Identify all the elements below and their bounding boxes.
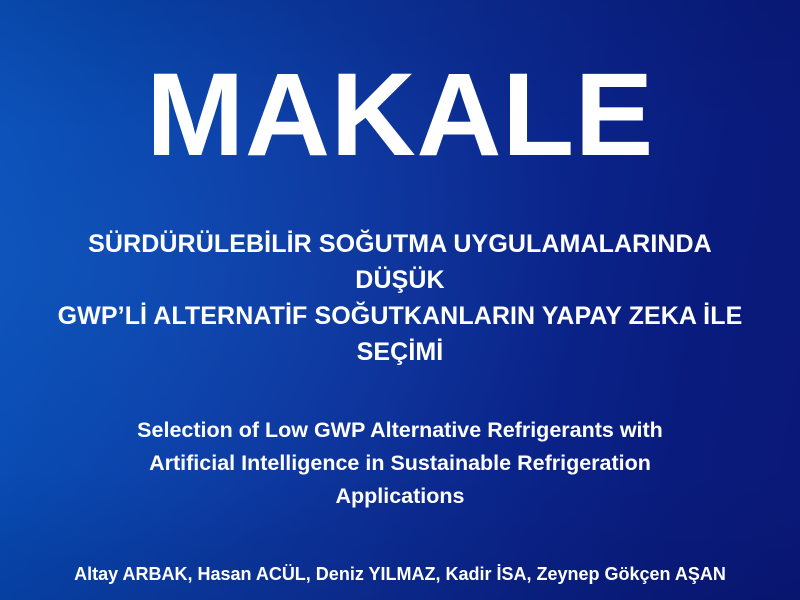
english-title-block: Selection of Low GWP Alternative Refrige…	[0, 370, 800, 513]
slide-main-title: MAKALE	[0, 0, 800, 174]
turkish-title-line-3: SEÇİMİ	[44, 334, 756, 370]
turkish-title-line-2: GWP’Lİ ALTERNATİF SOĞUTKANLARIN YAPAY ZE…	[44, 298, 756, 334]
english-title-line-3: Applications	[86, 480, 714, 513]
slide-content: MAKALE SÜRDÜRÜLEBİLİR SOĞUTMA UYGULAMALA…	[0, 0, 800, 587]
english-title-line-2: Artificial Intelligence in Sustainable R…	[86, 447, 714, 480]
authors-list: Altay ARBAK, Hasan ACÜL, Deniz YILMAZ, K…	[0, 513, 800, 587]
presentation-slide: MAKALE SÜRDÜRÜLEBİLİR SOĞUTMA UYGULAMALA…	[0, 0, 800, 600]
english-title-line-1: Selection of Low GWP Alternative Refrige…	[86, 414, 714, 447]
turkish-title-line-1: SÜRDÜRÜLEBİLİR SOĞUTMA UYGULAMALARINDA D…	[44, 226, 756, 298]
turkish-title-block: SÜRDÜRÜLEBİLİR SOĞUTMA UYGULAMALARINDA D…	[0, 174, 800, 370]
